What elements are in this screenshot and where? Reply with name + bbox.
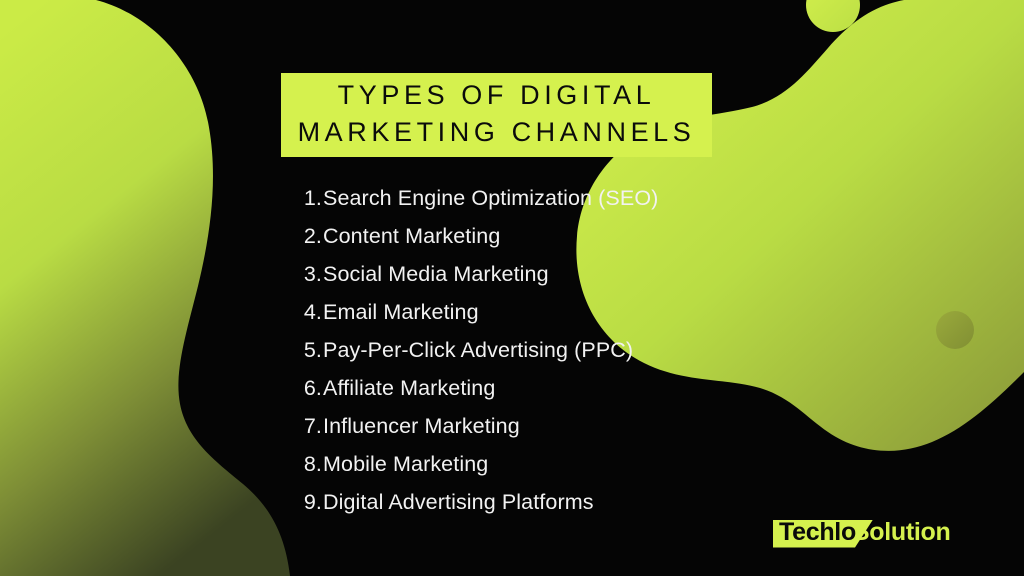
content-layer: TYPES OF DIGITAL MARKETING CHANNELS 1. S…	[0, 0, 1024, 576]
list-item-number: 8.	[296, 452, 322, 477]
list-item-number: 2.	[296, 224, 322, 249]
brand-logo: Techlo Solution	[773, 513, 951, 551]
list-item-number: 7.	[296, 414, 322, 439]
list-item-label: Influencer Marketing	[323, 414, 520, 439]
list-item-number: 1.	[296, 186, 322, 211]
slide-title: TYPES OF DIGITAL MARKETING CHANNELS	[281, 73, 712, 157]
slide-canvas: TYPES OF DIGITAL MARKETING CHANNELS 1. S…	[0, 0, 1024, 576]
list-item-number: 9.	[296, 490, 322, 515]
list-item-label: Affiliate Marketing	[323, 376, 495, 401]
list-item-label: Content Marketing	[323, 224, 500, 249]
list-item: 4. Email Marketing	[296, 300, 716, 338]
channel-list: 1. Search Engine Optimization (SEO) 2. C…	[296, 186, 716, 528]
list-item: 7. Influencer Marketing	[296, 414, 716, 452]
list-item: 2. Content Marketing	[296, 224, 716, 262]
list-item-label: Search Engine Optimization (SEO)	[323, 186, 658, 211]
list-item: 5. Pay-Per-Click Advertising (PPC)	[296, 338, 716, 376]
list-item-label: Digital Advertising Platforms	[323, 490, 594, 515]
list-item-number: 4.	[296, 300, 322, 325]
logo-primary-text: Techlo	[773, 517, 858, 548]
list-item: 3. Social Media Marketing	[296, 262, 716, 300]
list-item: 1. Search Engine Optimization (SEO)	[296, 186, 716, 224]
list-item-label: Mobile Marketing	[323, 452, 488, 477]
list-item: 6. Affiliate Marketing	[296, 376, 716, 414]
list-item-label: Email Marketing	[323, 300, 479, 325]
title-line-2: MARKETING CHANNELS	[298, 114, 696, 151]
list-item-label: Pay-Per-Click Advertising (PPC)	[323, 338, 633, 363]
logo-primary-mark: Techlo	[773, 517, 858, 548]
list-item-label: Social Media Marketing	[323, 262, 549, 287]
list-item: 8. Mobile Marketing	[296, 452, 716, 490]
title-line-1: TYPES OF DIGITAL	[338, 77, 656, 114]
list-item-number: 6.	[296, 376, 322, 401]
list-item-number: 3.	[296, 262, 322, 287]
list-item-number: 5.	[296, 338, 322, 363]
list-item: 9. Digital Advertising Platforms	[296, 490, 716, 528]
